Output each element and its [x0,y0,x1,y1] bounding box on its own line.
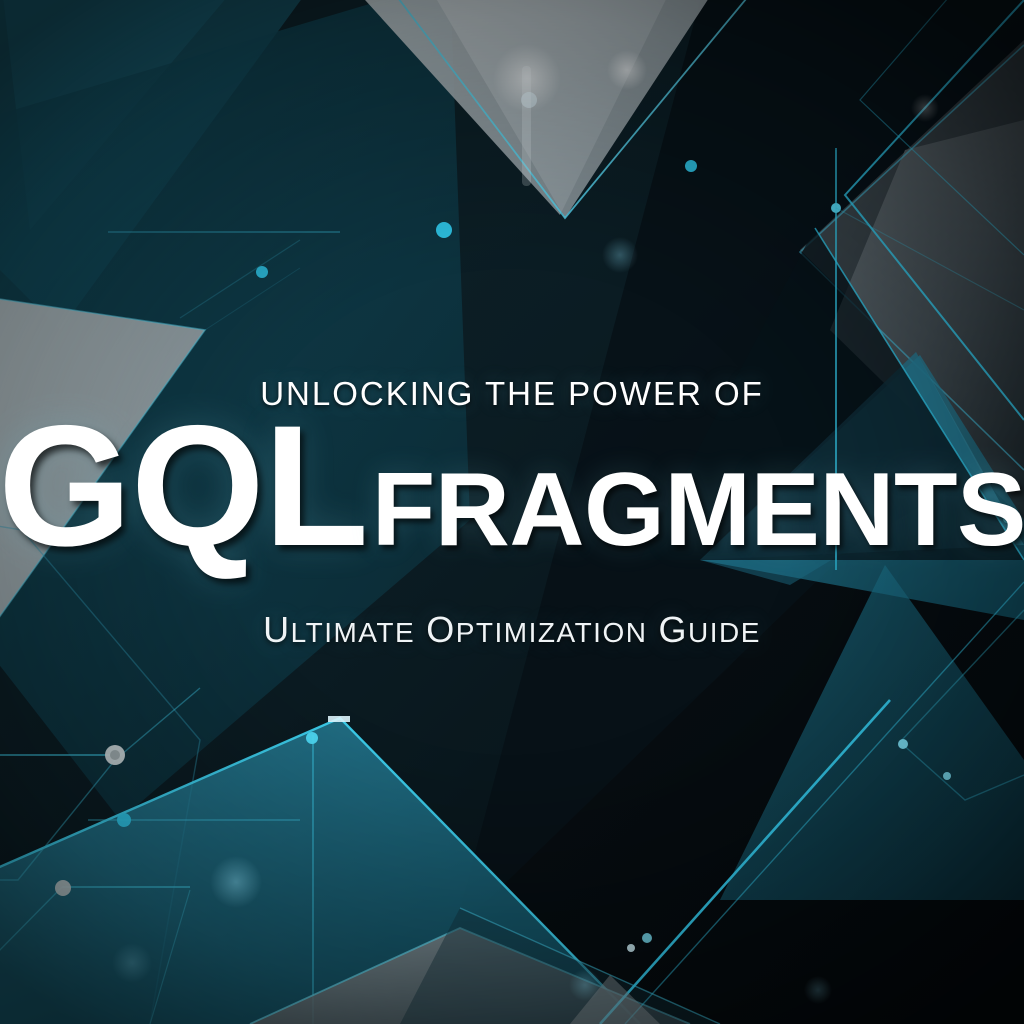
circuit-trace-12 [900,610,1024,800]
circuit-trace-4 [0,887,62,960]
glow-dot-9 [911,94,939,122]
circuit-trace-8 [180,240,300,318]
glow-dot-2 [607,50,647,90]
circuit-node-7 [1003,515,1011,523]
circuit-node-2 [117,813,131,827]
circuit-traces-right [836,150,1024,800]
circuit-trace-11 [836,208,1024,310]
circuit-traces-bottom-left [0,688,300,1024]
circuit-node-10 [642,933,652,943]
circuit-node-9 [943,772,951,780]
light-streak [522,66,531,186]
circuit-traces-upper-left [108,232,340,330]
circuit-node-6 [685,160,697,172]
circuit-node-11 [627,944,635,952]
circuit-node-5 [436,222,452,238]
glow-dot-7 [804,976,832,1004]
circuit-node-3 [55,880,71,896]
circuit-trace-9 [205,268,300,330]
circuit-trace-5 [0,688,200,880]
glow-dot-3 [602,237,638,273]
poster-canvas: UNLOCKING THE POWER OF GQL FRAGMENTS ULT… [0,0,1024,1024]
circuit-and-glow-layer [0,0,1024,1024]
circuit-node-8 [898,739,908,749]
glow-dot-5 [112,943,152,983]
circuit-node-1-core [110,750,120,760]
circuit-node-4 [256,266,268,278]
circuit-trace-6 [150,890,190,1024]
glow-dot-4 [210,856,262,908]
glow-dot-6 [569,969,601,1001]
